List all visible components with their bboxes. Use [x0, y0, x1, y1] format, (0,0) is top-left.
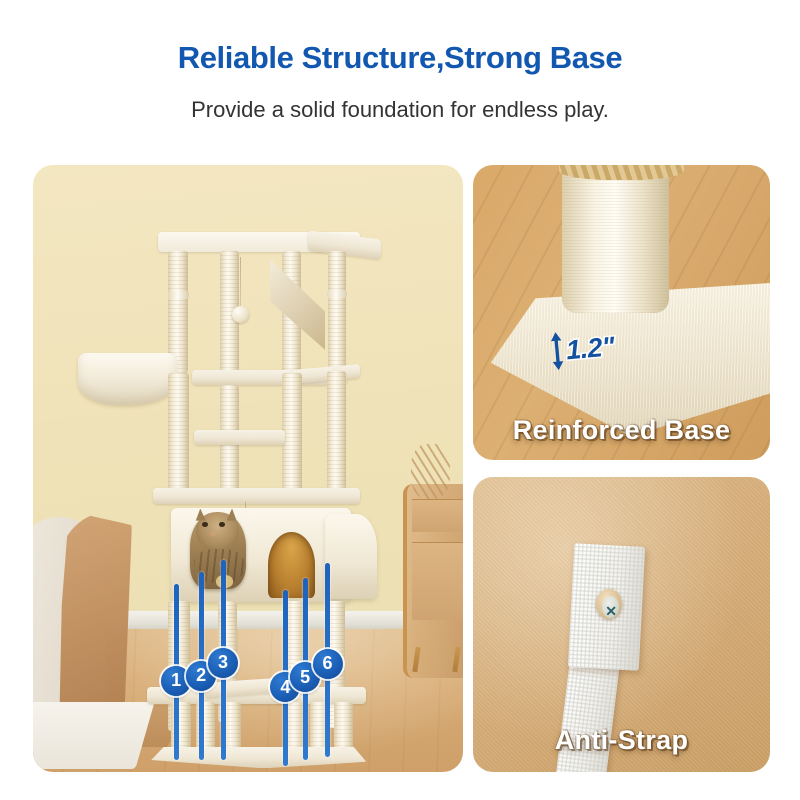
anti-strap-caption: Anti-Strap [473, 725, 770, 756]
post-collar-1 [168, 291, 190, 299]
post-top-right [328, 251, 347, 372]
base-post-fur-texture [562, 165, 669, 313]
hanging-ball-1 [232, 306, 249, 323]
cat-nose [210, 532, 217, 536]
condo-entry-hole [268, 532, 315, 598]
base-post-6 [334, 702, 353, 754]
thickness-dimension-callout: 1.2" [549, 327, 616, 370]
main-product-photo: 1 2 3 4 5 6 [33, 165, 463, 772]
post-mid-left [168, 373, 189, 494]
phillips-screw-icon: ✕ [605, 604, 617, 618]
toy-string-1 [240, 257, 242, 309]
post-collar-2 [327, 290, 348, 298]
callout-badge-6[interactable]: 6 [313, 649, 343, 679]
callout-badge-3[interactable]: 3 [208, 648, 238, 678]
plush-hammock-basket [78, 353, 177, 405]
sisal-rope-wrap [559, 165, 684, 180]
double-headed-vertical-arrow-icon [549, 332, 566, 371]
condo-right-side [325, 514, 377, 599]
post-mid-center-right [282, 373, 302, 494]
reinforced-base-photo: 1.2" Reinforced Base [473, 165, 770, 460]
page-subheadline: Provide a solid foundation for endless p… [0, 97, 800, 123]
page-headline: Reliable Structure,Strong Base [0, 40, 800, 76]
small-mid-shelf [194, 430, 284, 446]
cat-eye-left [202, 522, 208, 527]
thickness-value-label: 1.2" [565, 331, 616, 366]
reinforced-base-caption: Reinforced Base [473, 415, 770, 446]
shelf-tier-3 [153, 488, 359, 504]
cat-tree [33, 165, 463, 772]
cat-eye-right [219, 522, 225, 527]
anti-tip-strap-photo: ✕ Anti-Strap [473, 477, 770, 772]
product-feature-graphic: Reliable Structure,Strong Base Provide a… [0, 0, 800, 800]
post-mid-right [327, 371, 347, 492]
reinforced-base-board [151, 747, 366, 769]
